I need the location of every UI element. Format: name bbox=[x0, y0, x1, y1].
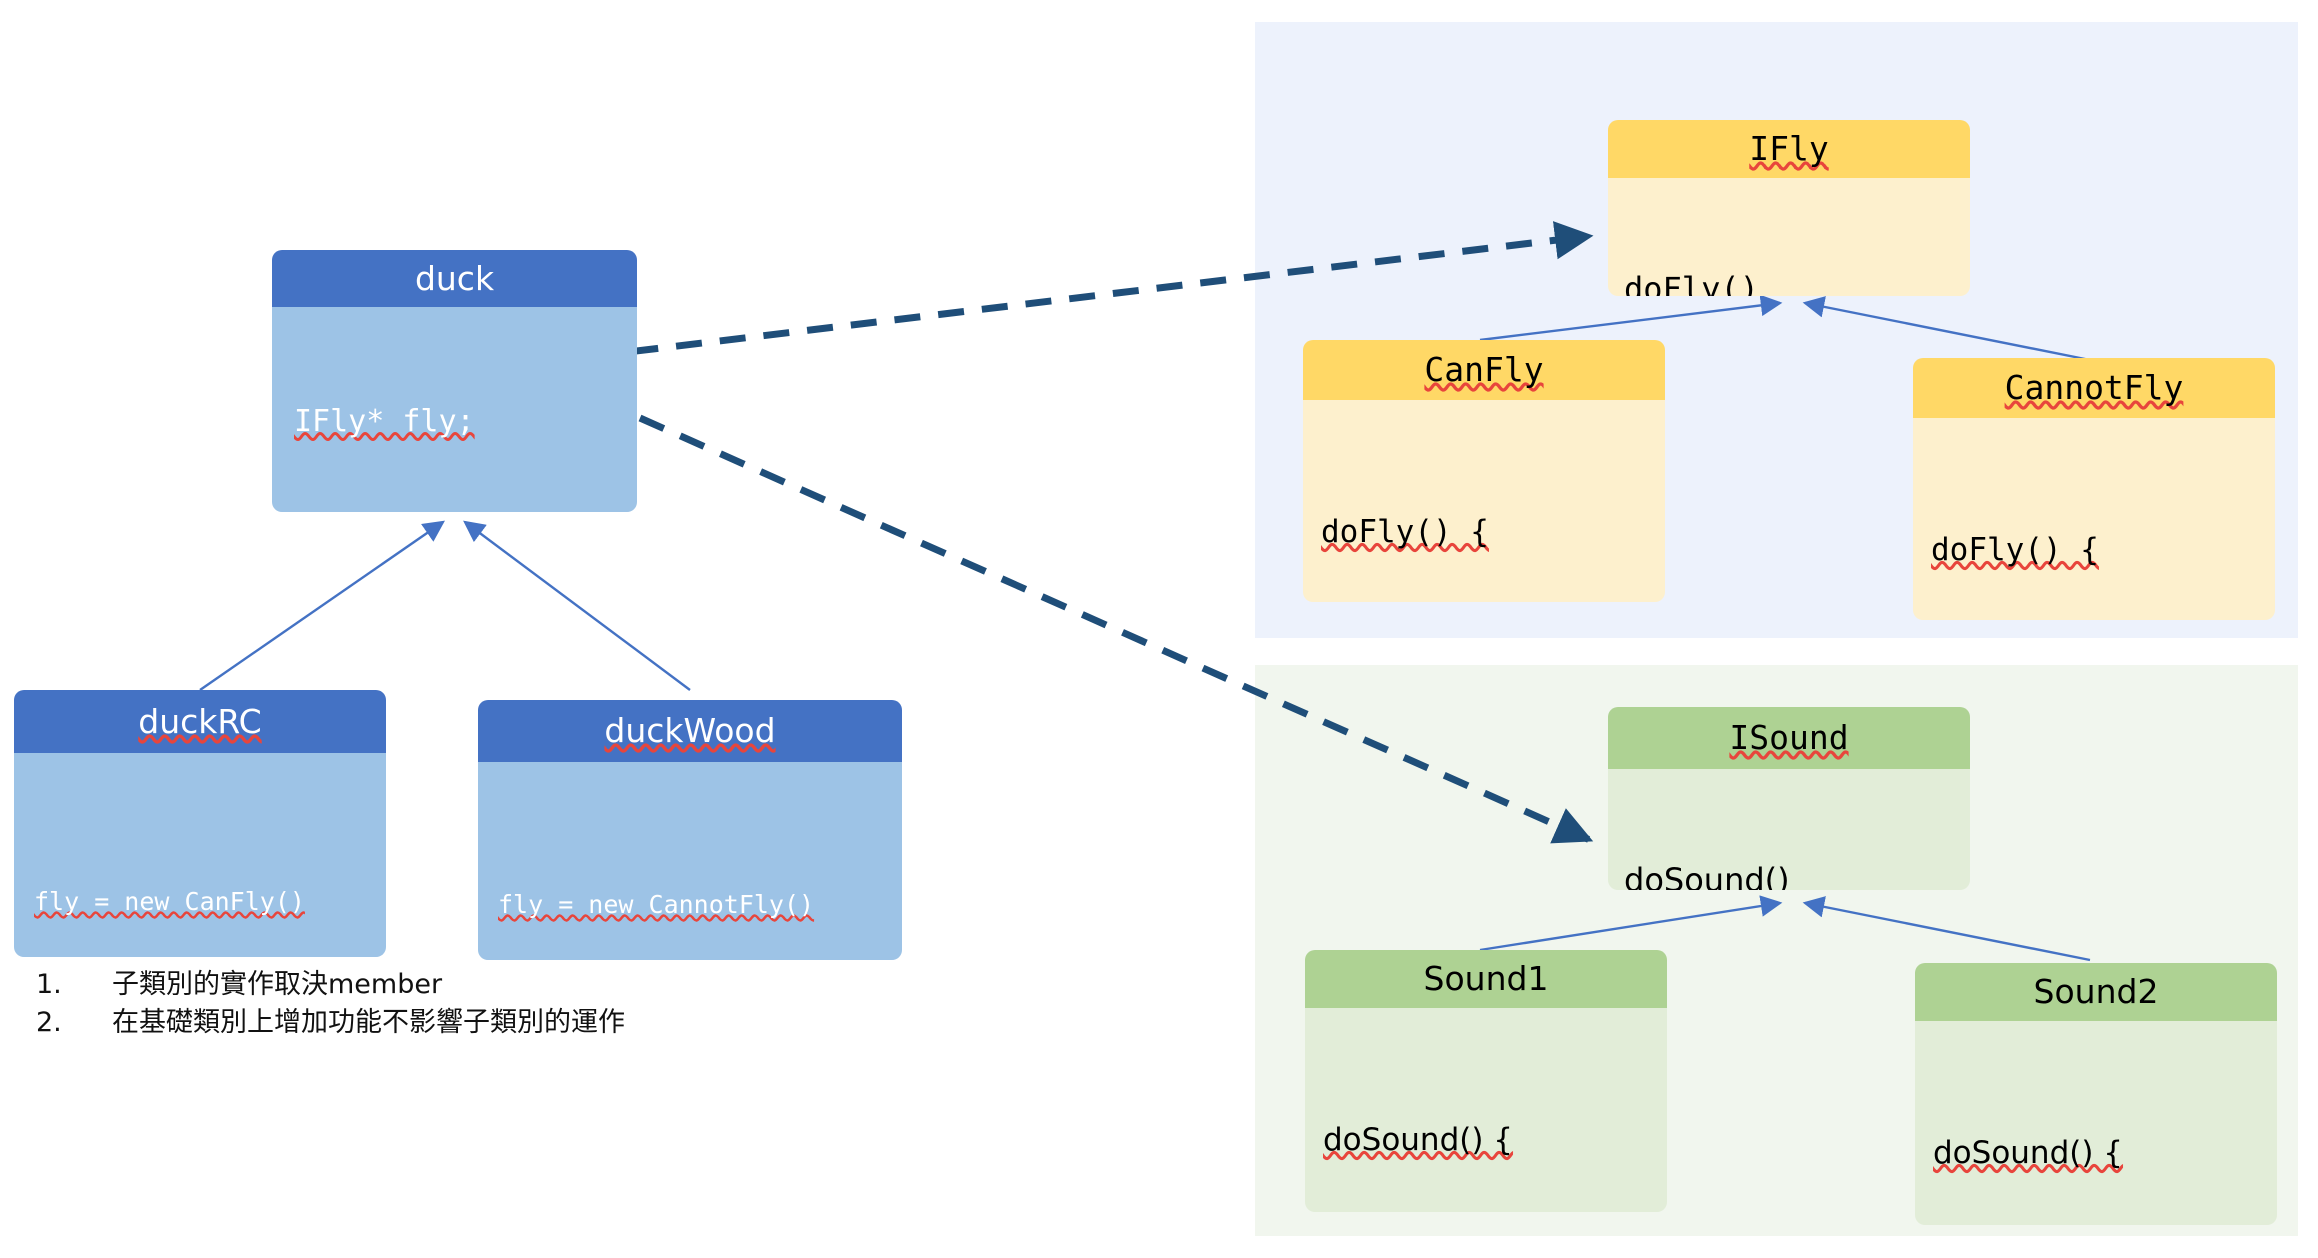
list-item-text: 子類別的實作取決member bbox=[112, 966, 442, 1004]
class-method-line: doSound() bbox=[1624, 860, 1970, 890]
class-body-duckrc: fly = new CanFly() bbox=[14, 753, 386, 957]
class-box-canfly[interactable]: CanFly doFly() { “Can fly” } bbox=[1303, 340, 1665, 602]
diagram-canvas: duck IFly* fly; Isound* sound; … duckRC … bbox=[0, 0, 2318, 1258]
class-method-line: doFly() { bbox=[1321, 512, 1665, 553]
class-body-duck: IFly* fly; Isound* sound; … bbox=[272, 307, 637, 512]
class-body-duckwood: fly = new CannotFly() bbox=[478, 762, 902, 960]
list-item: 1. 子類別的實作取決member bbox=[36, 966, 625, 1004]
class-member-line: fly = new CannotFly() bbox=[498, 889, 902, 922]
class-member-line: IFly* fly; bbox=[294, 402, 637, 442]
class-title-isound: ISound bbox=[1608, 707, 1970, 769]
class-box-sound1[interactable]: Sound1 doSound() { “Sound1” } bbox=[1305, 950, 1667, 1212]
class-method-line: doFly() bbox=[1624, 269, 1970, 296]
class-title-ifly: IFly bbox=[1608, 120, 1970, 178]
class-member-line: fly = new CanFly() bbox=[34, 886, 386, 919]
list-item: 2. 在基礎類別上增加功能不影響子類別的運作 bbox=[36, 1004, 625, 1042]
class-title-sound2: Sound2 bbox=[1915, 963, 2277, 1021]
class-title-sound1: Sound1 bbox=[1305, 950, 1667, 1008]
class-body-sound2: doSound() { “Sound2” } bbox=[1915, 1021, 2277, 1225]
class-box-sound2[interactable]: Sound2 doSound() { “Sound2” } bbox=[1915, 963, 2277, 1225]
class-body-isound: doSound() … bbox=[1608, 769, 1970, 890]
class-title-cannotfly: CannotFly bbox=[1913, 358, 2275, 418]
inherit-line-duckwood-duck bbox=[465, 522, 690, 690]
class-box-ifly[interactable]: IFly doFly() … bbox=[1608, 120, 1970, 296]
list-item-text: 在基礎類別上增加功能不影響子類別的運作 bbox=[112, 1004, 625, 1042]
class-title-duck: duck bbox=[272, 250, 637, 307]
inherit-line-duckrc-duck bbox=[200, 522, 443, 690]
class-title-duckwood: duckWood bbox=[478, 700, 902, 762]
class-method-line: doSound() { bbox=[1323, 1120, 1667, 1161]
class-body-sound1: doSound() { “Sound1” } bbox=[1305, 1008, 1667, 1212]
class-method-line: doFly() { bbox=[1931, 530, 2275, 571]
class-box-duck[interactable]: duck IFly* fly; Isound* sound; … bbox=[272, 250, 637, 512]
class-title-duckrc: duckRC bbox=[14, 690, 386, 753]
class-body-canfly: doFly() { “Can fly” } bbox=[1303, 400, 1665, 602]
class-box-duckwood[interactable]: duckWood fly = new CannotFly() bbox=[478, 700, 902, 960]
class-title-canfly: CanFly bbox=[1303, 340, 1665, 400]
class-box-isound[interactable]: ISound doSound() … bbox=[1608, 707, 1970, 890]
class-body-cannotfly: doFly() { “Cannot fly” } bbox=[1913, 418, 2275, 620]
list-item-number: 2. bbox=[36, 1004, 112, 1042]
class-method-line: doSound() { bbox=[1933, 1133, 2277, 1174]
list-item-number: 1. bbox=[36, 966, 112, 1004]
class-box-duckrc[interactable]: duckRC fly = new CanFly() bbox=[14, 690, 386, 957]
class-box-cannotfly[interactable]: CannotFly doFly() { “Cannot fly” } bbox=[1913, 358, 2275, 620]
class-body-ifly: doFly() … bbox=[1608, 178, 1970, 296]
notes-list: 1. 子類別的實作取決member 2. 在基礎類別上增加功能不影響子類別的運作 bbox=[36, 966, 625, 1043]
